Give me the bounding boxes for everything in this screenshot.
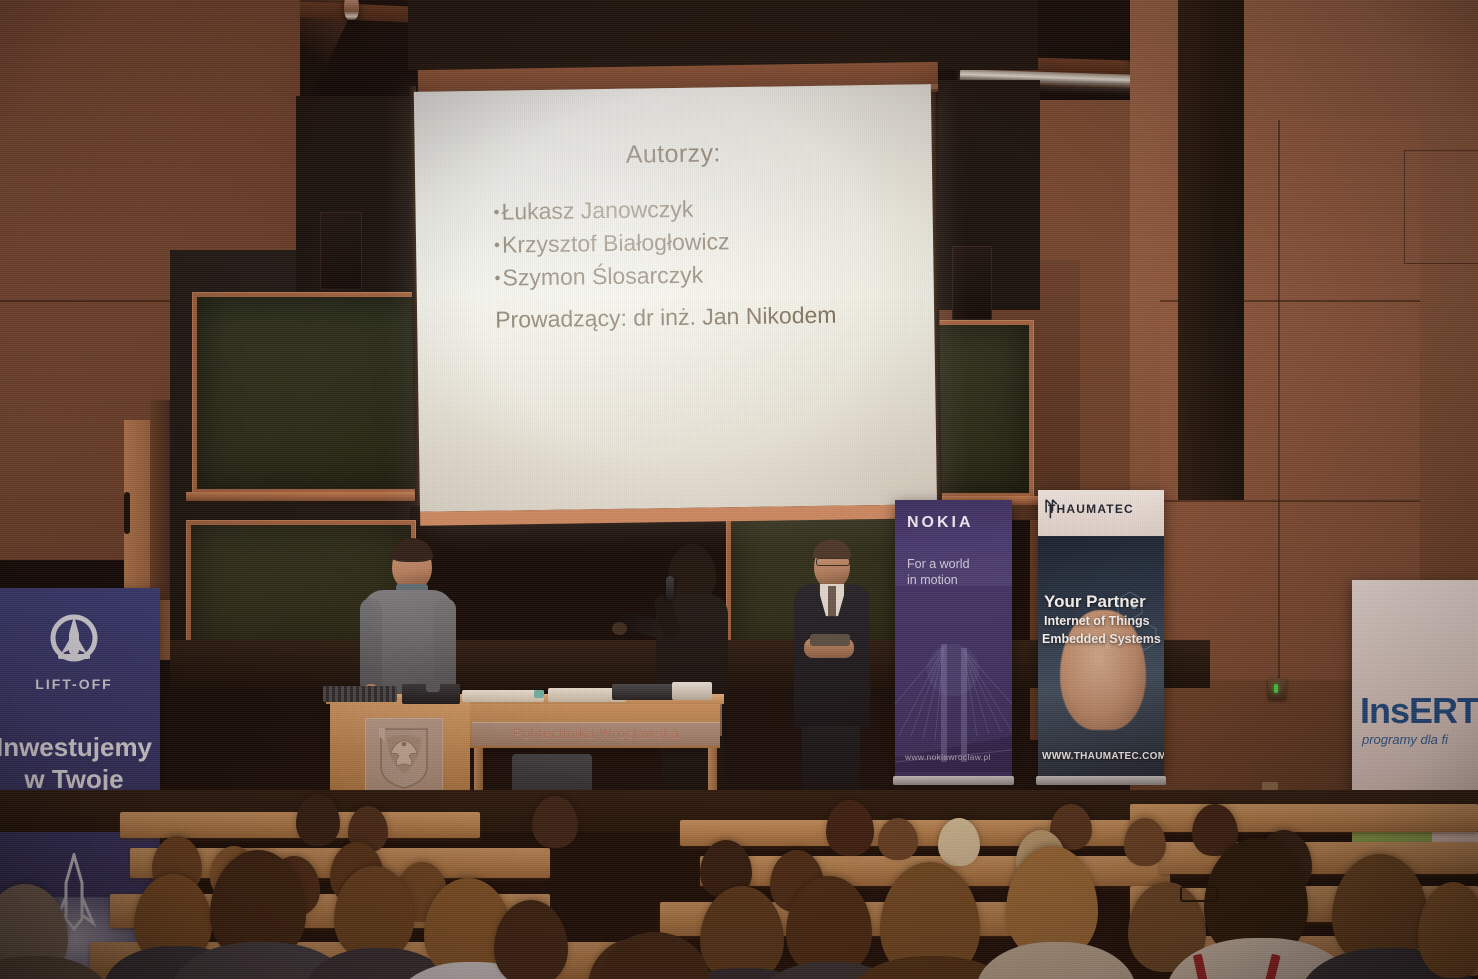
- insert-wordmark: InsERT: [1360, 690, 1478, 732]
- nokia-wordmark: NOKIA: [907, 514, 974, 532]
- banner-nokia-base: [893, 776, 1014, 785]
- bench-row-back-right: [1130, 804, 1478, 832]
- thaumatec-line3: Embedded Systems: [1042, 632, 1161, 646]
- wroclaw-eagle-crest-icon: [377, 726, 431, 790]
- slide-title: Autorzy:: [415, 136, 932, 173]
- bridge-illustration: [895, 586, 1012, 776]
- wall-access-hatch: [1404, 150, 1478, 264]
- list-item-audience-head: [938, 818, 980, 866]
- thaumatec-body: Your Partner Internet of Things Embedded…: [1038, 536, 1164, 776]
- slide-supervisor: Prowadzący: dr inż. Jan Nikodem: [495, 302, 837, 334]
- projection-screen: Autorzy: Łukasz Janowczyk Krzysztof Biał…: [414, 84, 937, 526]
- head-blocking-laptop: [600, 932, 710, 979]
- desk-papers: [462, 690, 544, 702]
- list-item-audience-head-front: [786, 876, 872, 976]
- hair: [391, 538, 433, 562]
- microphone-icon: [666, 576, 674, 600]
- nokia-tagline-line2: in motion: [907, 572, 970, 588]
- insert-tagline: programy dla fi: [1362, 732, 1448, 747]
- list-item-audience-head-front: [700, 886, 784, 979]
- nokia-url: www.nokiawroclaw.pl: [905, 752, 991, 762]
- hand-pointing: [612, 622, 627, 635]
- nokia-tagline: For a world in motion: [907, 556, 970, 588]
- list-item-author-2: Krzysztof Białogłowicz: [494, 225, 730, 261]
- shoulders: [976, 942, 1136, 979]
- thaumatec-headline: Your Partner: [1044, 592, 1146, 612]
- banner-nokia: NOKIA For a world in motion www.nokiawro…: [895, 500, 1012, 776]
- glasses-icon: [816, 558, 850, 566]
- nokia-tagline-line1: For a world: [907, 556, 970, 572]
- liftoff-logo-icon: [44, 610, 104, 670]
- glasses-icon: [1180, 886, 1218, 902]
- list-item-author-3: Szymon Ślosarczyk: [494, 258, 730, 294]
- wall-far-right-dark: [1178, 0, 1244, 500]
- banner-thaumatec: Your Partner Internet of Things Embedded…: [1038, 490, 1164, 776]
- wall-speaker-right: [952, 246, 992, 320]
- list-item-audience-head: [826, 800, 874, 856]
- hair: [668, 544, 716, 600]
- thaumatec-url: WWW.THAUMATEC.COM: [1042, 751, 1164, 762]
- ceiling-spotlight-7: [344, 0, 359, 20]
- host-in-suit: [790, 540, 874, 818]
- panel-seam-v1: [1278, 120, 1280, 680]
- desk-teal-item: [534, 690, 544, 698]
- nameplate-text: Politechnika Wrocławska: [472, 722, 720, 746]
- list-item-audience-head: [532, 796, 578, 848]
- list-item-audience-head: [296, 794, 340, 846]
- chalkboard-left: [192, 292, 424, 494]
- thaumatec-logo-strip: THAUMATEC: [1038, 490, 1164, 536]
- liftoff-brand: LIFT-OFF: [0, 676, 160, 692]
- chalkboard-surface: [197, 297, 419, 489]
- desk-equipment-console[interactable]: [323, 686, 397, 702]
- thaumatec-mark-icon: [1044, 496, 1061, 522]
- desk-knob[interactable]: [426, 680, 440, 692]
- backwall-dark-upper: [408, 0, 1038, 70]
- liftoff-headline-1: Inwestujemy: [0, 732, 160, 763]
- lectern-nameplate: Politechnika Wrocławska: [472, 722, 720, 746]
- wall-speaker-left: [320, 212, 362, 290]
- banner-thaumatec-base: [1036, 776, 1166, 785]
- slide-content: Autorzy: Łukasz Janowczyk Krzysztof Biał…: [414, 84, 937, 512]
- list-item-audience-head: [1124, 818, 1166, 866]
- chalkboard-surface-right: [927, 325, 1029, 493]
- university-crest: [365, 718, 443, 800]
- door-handle[interactable]: [124, 492, 130, 534]
- desk-device-white[interactable]: [672, 682, 712, 700]
- held-object: [810, 634, 850, 646]
- hair: [813, 539, 851, 559]
- pointing-hand-photo: [1060, 610, 1146, 730]
- chalkboard-left-ledge: [186, 492, 430, 501]
- lecture-hall-photo: Autorzy: Łukasz Janowczyk Krzysztof Biał…: [0, 0, 1478, 979]
- author-list: Łukasz Janowczyk Krzysztof Białogłowicz …: [493, 192, 730, 294]
- list-item-audience-head: [878, 818, 918, 860]
- green-led-indicator: [1274, 684, 1278, 693]
- thaumatec-line2: Internet of Things: [1044, 614, 1150, 628]
- tie: [828, 586, 836, 620]
- panel-seam-h2: [1160, 500, 1420, 502]
- audience-area: [0, 790, 1478, 979]
- arm-left: [360, 598, 382, 694]
- slide-author-list: Łukasz Janowczyk Krzysztof Białogłowicz …: [493, 192, 730, 294]
- list-item-author-1: Łukasz Janowczyk: [493, 192, 729, 228]
